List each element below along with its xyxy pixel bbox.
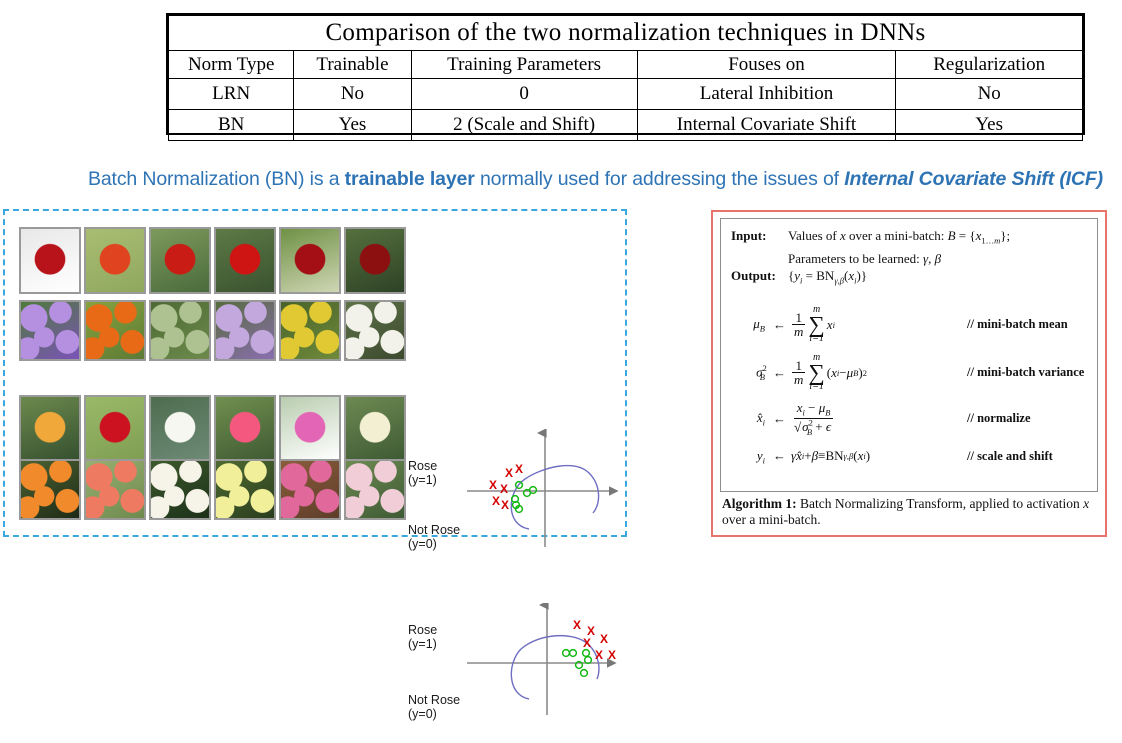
- svg-text:X: X: [500, 482, 508, 496]
- flower-thumbnail: [279, 300, 341, 361]
- flower-thumbnail: [19, 300, 81, 361]
- algorithm-caption: Algorithm 1: Batch Normalizing Transform…: [720, 492, 1098, 528]
- svg-text:X: X: [595, 648, 603, 662]
- svg-text:X: X: [501, 498, 509, 512]
- algorithm-input-line: Input: Values of x over a mini-batch: B …: [731, 227, 1087, 250]
- cell-bn-training-parameters: 2 (Scale and Shift): [411, 110, 637, 141]
- flower-thumbnail: [214, 227, 276, 294]
- caption-text-bold-italic: Internal Covariate Shift (ICF): [844, 168, 1103, 190]
- svg-text:X: X: [492, 494, 500, 508]
- cell-bn-regularization: Yes: [896, 110, 1083, 141]
- bn-description-caption: Batch Normalization (BN) is a trainable …: [88, 168, 1118, 194]
- input-params: Parameters to be learned: γ, β: [788, 250, 1087, 267]
- comment-normalize: // normalize: [967, 411, 1031, 426]
- svg-text:X: X: [573, 618, 581, 632]
- algorithm-caption-text-b: over a mini-batch.: [722, 512, 821, 527]
- svg-text:X: X: [583, 636, 591, 650]
- column-header-regularization: Regularization: [896, 51, 1083, 79]
- caption-text-bold: trainable layer: [345, 168, 475, 190]
- flower-thumbnail: [19, 227, 81, 294]
- algorithm-step-variance: σ2B ← 1m m∑i=1 (xi − μB)2 // mini-batch …: [731, 353, 1087, 392]
- image-row-not-roses-top: [19, 300, 406, 361]
- class-markers-rose: [512, 482, 537, 513]
- label-not-rose-top: Not Rose (y=0): [408, 523, 460, 551]
- cell-bn-norm-type: BN: [169, 110, 294, 141]
- cell-lrn-trainable: No: [294, 79, 411, 110]
- flower-thumbnail: [344, 227, 406, 294]
- label-rose-top-line2: (y=1): [408, 473, 437, 487]
- table-row: LRN No 0 Lateral Inhibition No: [169, 79, 1083, 110]
- flower-thumbnail: [214, 300, 276, 361]
- feature-scatter-plot-top: XX XX XX: [467, 429, 632, 579]
- flower-thumbnail: [149, 300, 211, 361]
- input-value: Values of x over a mini-batch: B = {x1…m…: [788, 227, 1087, 250]
- label-not-rose-bottom-line2: (y=0): [408, 707, 460, 721]
- column-header-fouses-on: Fouses on: [637, 51, 896, 79]
- label-not-rose-top-line1: Not Rose: [408, 523, 460, 537]
- cell-bn-trainable: Yes: [294, 110, 411, 141]
- flower-thumbnail: [149, 395, 211, 462]
- cell-lrn-norm-type: LRN: [169, 79, 294, 110]
- table-title: Comparison of the two normalization tech…: [169, 16, 1083, 51]
- feature-scatter-plot-bottom: XX XX XX: [467, 603, 637, 743]
- label-not-rose-top-line2: (y=0): [408, 537, 460, 551]
- table-title-row: Comparison of the two normalization tech…: [169, 16, 1083, 51]
- caption-text-part2: normally used for addressing the issues …: [475, 168, 845, 190]
- flower-thumbnail: [279, 227, 341, 294]
- label-rose-top-line1: Rose: [408, 459, 437, 473]
- label-rose-bottom: Rose (y=1): [408, 623, 437, 651]
- image-row-roses-top: [19, 227, 406, 294]
- comment-scale-and-shift: // scale and shift: [967, 449, 1053, 464]
- flower-thumbnail: [149, 227, 211, 294]
- algorithm-caption-title: Algorithm 1:: [722, 496, 797, 511]
- label-not-rose-bottom-line1: Not Rose: [408, 693, 460, 707]
- image-row-roses-bottom: [19, 395, 406, 462]
- svg-text:X: X: [489, 478, 497, 492]
- class-markers-not-rose: XX XX XX: [573, 618, 616, 662]
- svg-text:X: X: [600, 632, 608, 646]
- comparison-table-grid: Comparison of the two normalization tech…: [168, 15, 1083, 141]
- column-header-trainable: Trainable: [294, 51, 411, 79]
- flower-thumbnail: [84, 227, 146, 294]
- cell-lrn-fouses-on: Lateral Inhibition: [637, 79, 896, 110]
- flower-thumbnail: [344, 300, 406, 361]
- algorithm-caption-text-a: Batch Normalizing Transform, applied to …: [797, 496, 1083, 511]
- flower-thumbnail: [279, 459, 341, 520]
- flower-thumbnail: [279, 395, 341, 462]
- flower-thumbnail: [84, 300, 146, 361]
- output-value: {yi = BNγ,β(xi)}: [788, 267, 1087, 290]
- flower-thumbnail: [84, 459, 146, 520]
- flower-thumbnail: [214, 395, 276, 462]
- label-rose-bottom-line1: Rose: [408, 623, 437, 637]
- input-label: Input:: [731, 227, 788, 250]
- algorithm-step-scale-shift: yi ← γx̂i + β ≡ BNγ,β(xi) // scale and s…: [731, 448, 1087, 466]
- caption-text-part1: Batch Normalization (BN) is a: [88, 168, 345, 190]
- algorithm-output-line: Output: {yi = BNγ,β(xi)}: [731, 267, 1087, 290]
- svg-text:X: X: [608, 648, 616, 662]
- svg-text:X: X: [505, 466, 513, 480]
- cell-lrn-regularization: No: [896, 79, 1083, 110]
- flower-thumbnail: [214, 459, 276, 520]
- cell-bn-fouses-on: Internal Covariate Shift: [637, 110, 896, 141]
- comment-mini-batch-mean: // mini-batch mean: [967, 317, 1068, 332]
- flower-thumbnail: [84, 395, 146, 462]
- label-not-rose-bottom: Not Rose (y=0): [408, 693, 460, 721]
- image-row-not-roses-bottom: [19, 459, 406, 520]
- comment-mini-batch-variance: // mini-batch variance: [967, 365, 1084, 380]
- algorithm-panel: Input: Values of x over a mini-batch: B …: [711, 210, 1107, 537]
- algorithm-caption-symbol-x: x: [1083, 496, 1089, 511]
- cell-lrn-training-parameters: 0: [411, 79, 637, 110]
- output-label: Output:: [731, 267, 788, 290]
- table-row: BN Yes 2 (Scale and Shift) Internal Cova…: [169, 110, 1083, 141]
- flower-thumbnail: [19, 395, 81, 462]
- algorithm-step-mean: μB ← 1m m∑i=1 xi // mini-batch mean: [731, 305, 1087, 344]
- flower-thumbnail: [344, 459, 406, 520]
- algorithm-body: Input: Values of x over a mini-batch: B …: [720, 218, 1098, 492]
- label-rose-top: Rose (y=1): [408, 459, 437, 487]
- comparison-table: Comparison of the two normalization tech…: [166, 13, 1085, 135]
- column-header-norm-type: Norm Type: [169, 51, 294, 79]
- svg-text:X: X: [515, 462, 523, 476]
- flower-thumbnail: [19, 459, 81, 520]
- flower-thumbnail: [344, 395, 406, 462]
- column-header-training-parameters: Training Parameters: [411, 51, 637, 79]
- algorithm-step-normalize: x̂i ← xi − μB √σ2B + ϵ // normalize: [731, 401, 1087, 436]
- table-header-row: Norm Type Trainable Training Parameters …: [169, 51, 1083, 79]
- algorithm-input-line2: Parameters to be learned: γ, β: [731, 250, 1087, 267]
- decision-boundary-curve: [511, 466, 598, 529]
- label-rose-bottom-line2: (y=1): [408, 637, 437, 651]
- flower-thumbnail: [149, 459, 211, 520]
- examples-panel: XX XX XX XX XX XX: [3, 209, 627, 537]
